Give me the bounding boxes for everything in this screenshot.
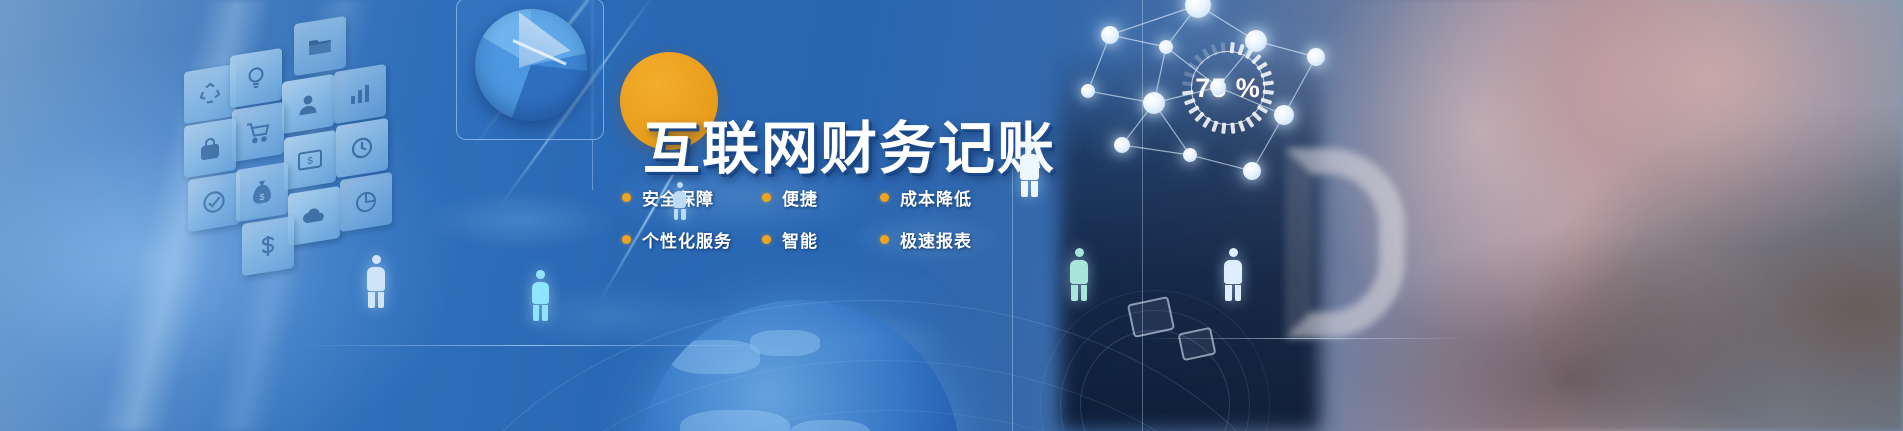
folder-icon <box>294 16 346 76</box>
money-bag-icon: $ <box>236 162 288 222</box>
feature-item-personalized[interactable]: 个性化服务 <box>622 227 762 252</box>
feature-item-fast-report[interactable]: 极速报表 <box>880 227 1000 252</box>
network-node <box>1081 84 1095 98</box>
pie-chart-panel <box>456 0 604 140</box>
user-icon <box>282 74 334 134</box>
network-node <box>1210 79 1226 95</box>
lightbulb-icon <box>230 48 282 108</box>
network-node <box>1245 30 1267 52</box>
network-node <box>1159 40 1173 54</box>
dollar-icon <box>242 216 294 276</box>
network-node <box>1101 26 1119 44</box>
feature-item-security[interactable]: 安全保障 <box>622 185 762 210</box>
feature-item-cost-down[interactable]: 成本降低 <box>880 185 1000 210</box>
person-figure <box>365 255 387 308</box>
decor-horizontal-rule <box>300 345 770 346</box>
bullet-dot-icon <box>762 235 771 244</box>
bar-chart-icon <box>334 64 386 124</box>
feature-label: 极速报表 <box>900 227 972 252</box>
lock-icon <box>184 118 236 178</box>
network-node <box>1114 137 1130 153</box>
network-node <box>1243 162 1261 180</box>
person-figure <box>1018 142 1041 197</box>
feature-label: 个性化服务 <box>642 227 732 252</box>
feature-label: 智能 <box>782 227 818 252</box>
check-circle-icon <box>188 172 240 232</box>
bullet-dot-icon <box>880 235 889 244</box>
person-figure <box>672 182 687 220</box>
feature-label: 便捷 <box>782 185 818 210</box>
icon-cube-cluster: $$ <box>170 10 400 240</box>
shopping-cart-icon <box>232 102 284 162</box>
cloud-icon <box>288 186 340 246</box>
svg-text:$: $ <box>259 192 264 203</box>
network-node-graph <box>1070 0 1360 195</box>
bullet-dot-icon <box>762 193 771 202</box>
bullet-dot-icon <box>622 235 631 244</box>
page-title: 互联网财务记账 <box>643 103 1056 185</box>
recycle-icon <box>184 64 236 124</box>
credit-card-icon: $ <box>284 130 336 190</box>
feature-item-intelligent[interactable]: 智能 <box>762 227 880 252</box>
network-node <box>1307 48 1325 66</box>
feature-label: 成本降低 <box>900 185 972 210</box>
feature-item-convenient[interactable]: 便捷 <box>762 185 880 210</box>
person-figure <box>1068 248 1090 301</box>
pie-chart-icon <box>340 172 392 232</box>
network-node <box>1274 105 1294 125</box>
bullet-dot-icon <box>622 193 631 202</box>
refresh-icon <box>336 118 388 178</box>
promo-banner: $$ 互联网财务记账 安全保障 便捷 成本降低 <box>0 0 1903 431</box>
bullet-dot-icon <box>880 193 889 202</box>
person-figure <box>530 270 551 321</box>
network-node <box>1143 92 1165 114</box>
svg-text:$: $ <box>307 156 313 168</box>
network-node <box>1183 148 1197 162</box>
feature-row-2: 个性化服务 智能 极速报表 <box>622 227 1042 252</box>
person-figure <box>1222 248 1244 301</box>
